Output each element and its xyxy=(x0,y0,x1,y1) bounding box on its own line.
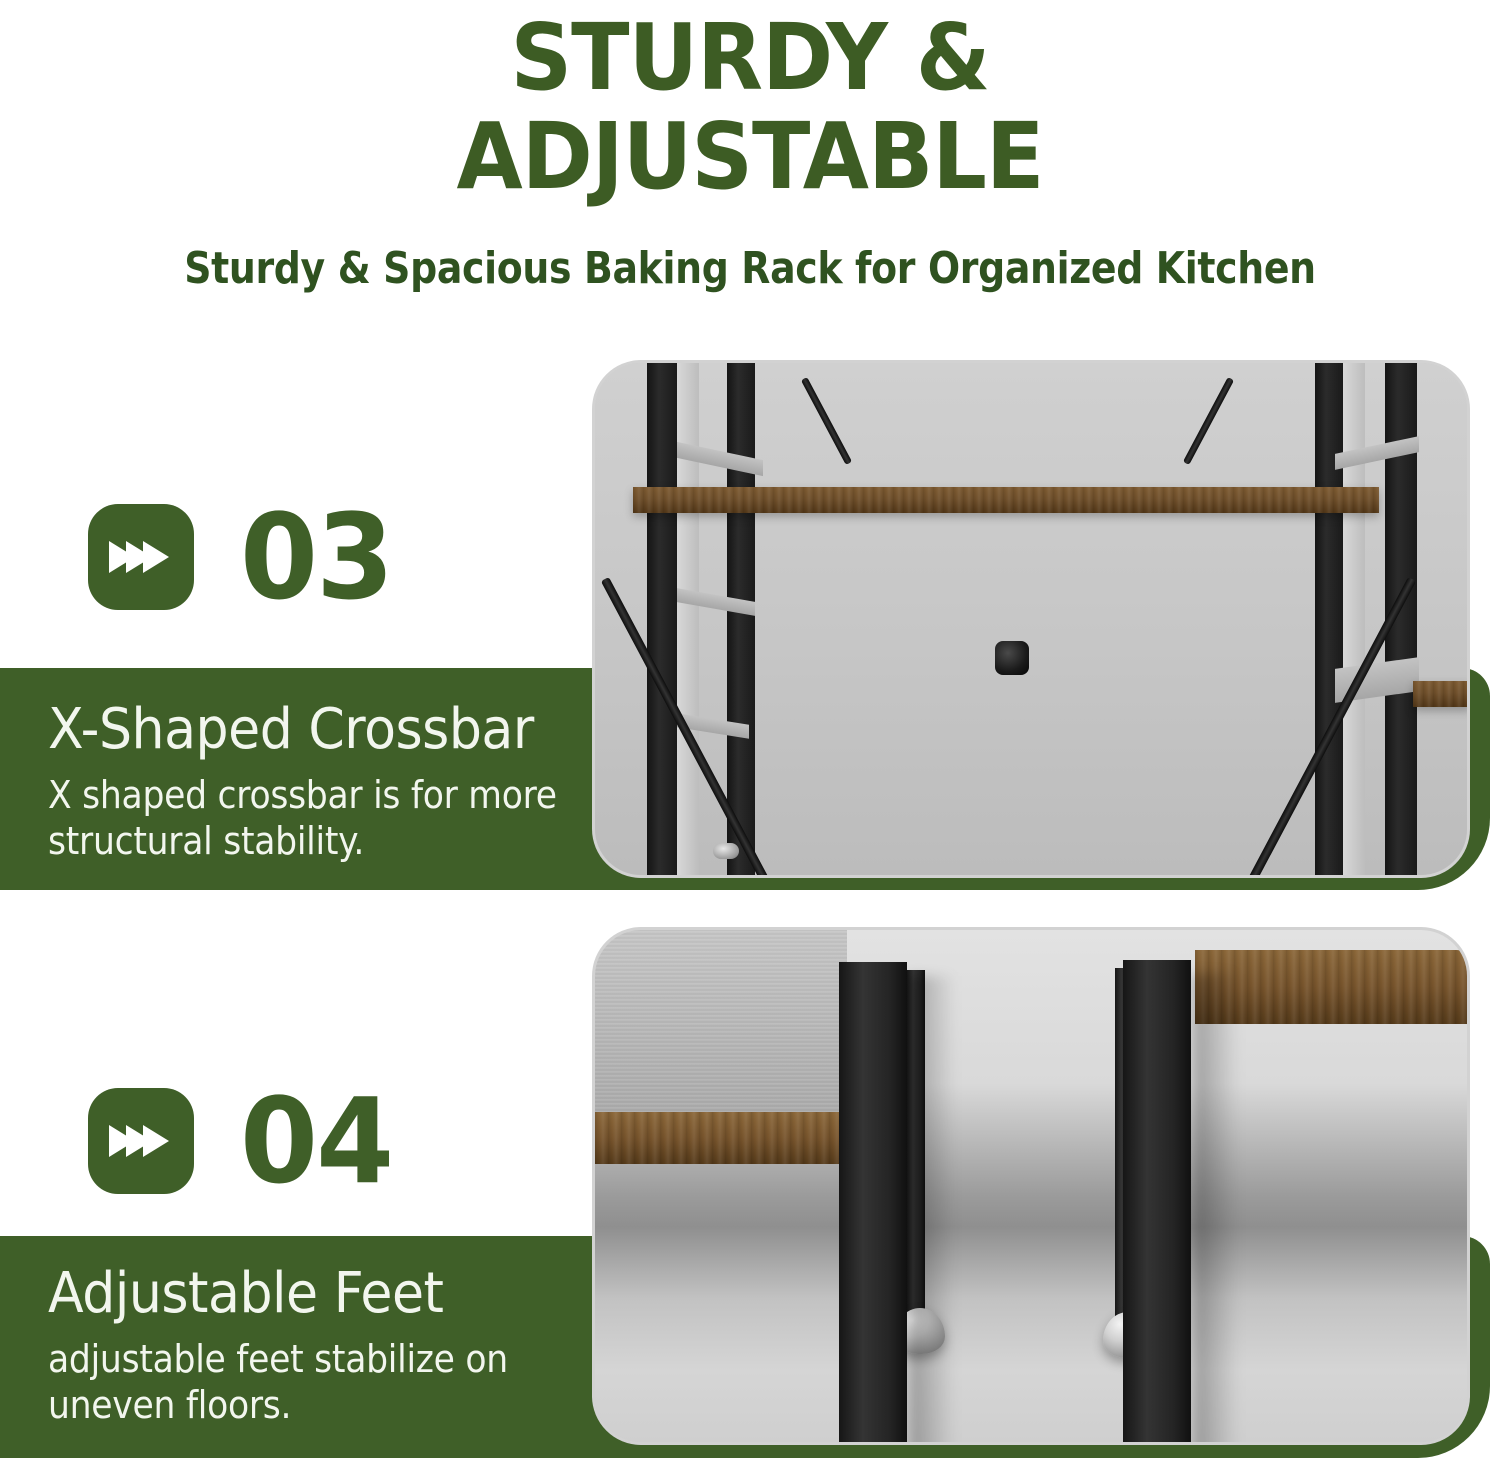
fast-forward-icon xyxy=(88,1088,194,1194)
feature-text-04: Adjustable Feet adjustable feet stabiliz… xyxy=(48,1266,608,1429)
feature-description-03: X shaped crossbar is for more structural… xyxy=(48,772,558,865)
feature-text-03: X-Shaped Crossbar X shaped crossbar is f… xyxy=(48,702,608,865)
fast-forward-icon xyxy=(88,504,194,610)
x-crossbar-scene xyxy=(595,363,1467,875)
feature-image-04 xyxy=(595,930,1467,1442)
feature-image-03 xyxy=(595,363,1467,875)
adjustable-feet-scene xyxy=(595,930,1467,1442)
badge-row-03: 03 xyxy=(88,498,396,616)
page-title-line-1: STURDY & xyxy=(53,8,1448,107)
feature-number-03: 03 xyxy=(240,498,392,616)
page-title: STURDY & ADJUSTABLE xyxy=(53,8,1448,207)
page-title-line-2: ADJUSTABLE xyxy=(53,107,1448,206)
feature-number-04: 04 xyxy=(240,1082,392,1200)
feature-title-04: Adjustable Feet xyxy=(48,1266,569,1322)
infographic-page: STURDY & ADJUSTABLE Sturdy & Spacious Ba… xyxy=(0,0,1500,1471)
header: STURDY & ADJUSTABLE Sturdy & Spacious Ba… xyxy=(0,0,1500,330)
feature-title-03: X-Shaped Crossbar xyxy=(48,702,569,758)
badge-row-04: 04 xyxy=(88,1082,396,1200)
feature-description-04: adjustable feet stabilize on uneven floo… xyxy=(48,1336,558,1429)
page-subtitle: Sturdy & Spacious Baking Rack for Organi… xyxy=(105,243,1395,294)
